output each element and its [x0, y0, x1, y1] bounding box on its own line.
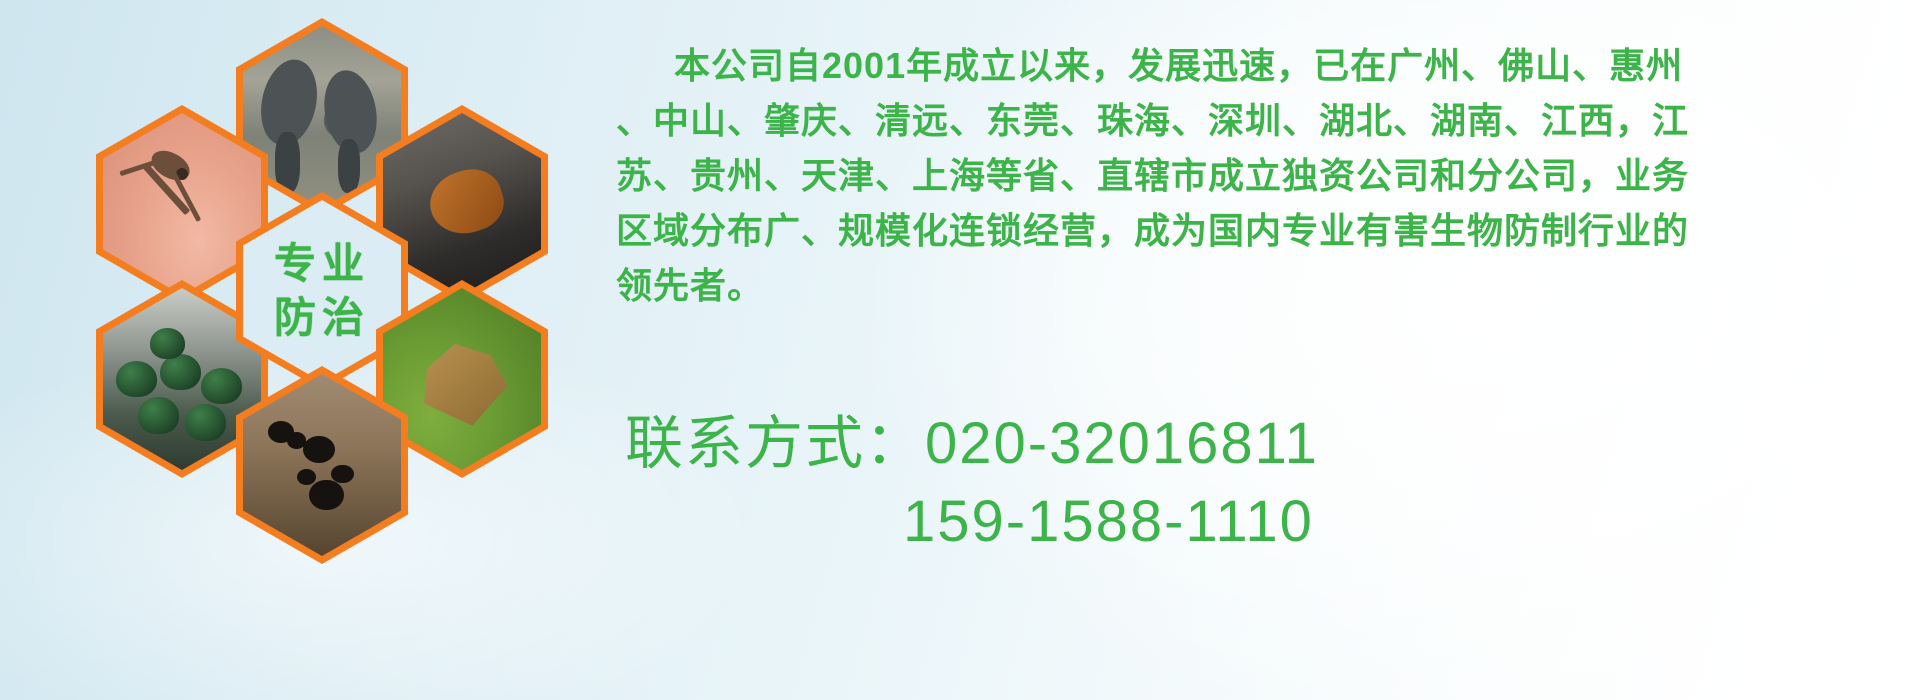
hex-inner	[243, 374, 401, 556]
contact-phone-secondary[interactable]: 159-1588-1110	[625, 483, 1895, 561]
contact-block: 联系方式：020-32016811 159-1588-1110	[625, 405, 1895, 561]
slogan-line-2: 防治	[274, 294, 370, 342]
description-line-3: 苏、贵州、天津、上海等省、直辖市成立独资公司和分公司，业务	[616, 148, 1886, 203]
description-line-5: 领先者。	[616, 258, 1886, 313]
promo-banner: 专业 防治	[0, 0, 1920, 700]
company-description: 本公司自2001年成立以来，发展迅速，已在广州、佛山、惠州 、中山、肇庆、清远、…	[616, 38, 1886, 313]
honeycomb-cluster: 专业 防治	[88, 10, 588, 550]
slogan-line-1: 专业	[274, 240, 370, 288]
description-line-4: 区域分布广、规模化连锁经营，成为国内专业有害生物防制行业的	[616, 203, 1886, 258]
description-line-2: 、中山、肇庆、清远、东莞、珠海、深圳、湖北、湖南、江西，江	[616, 93, 1886, 148]
description-line-1: 本公司自2001年成立以来，发展迅速，已在广州、佛山、惠州	[616, 38, 1886, 93]
contact-phone-primary[interactable]: 联系方式：020-32016811	[625, 405, 1895, 483]
ants-photo-icon	[243, 374, 401, 556]
